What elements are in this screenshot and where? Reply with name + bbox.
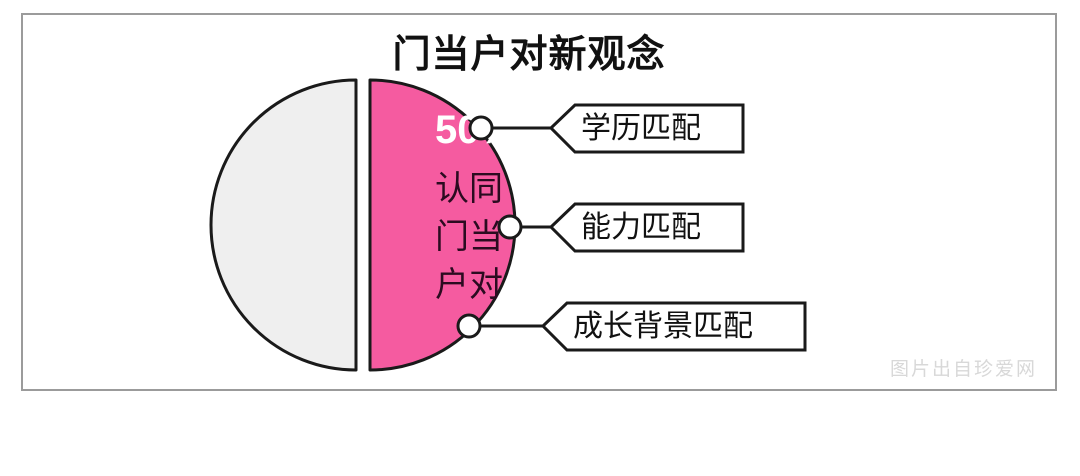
pie-center-line-1: 认同 [435, 170, 503, 208]
pie-center-line-2: 门当 [435, 218, 503, 256]
pie-chart-graphic: 50% 认同 门当 户对 学历匹配 能力匹配 成长背景 [23, 15, 1059, 393]
callout-label-1: 学历匹配 [581, 112, 701, 145]
callout-label-3: 成长背景匹配 [573, 310, 753, 343]
connector-dot-1[interactable] [470, 117, 492, 139]
pie-center-line-3: 户对 [435, 266, 503, 304]
callout-label-2: 能力匹配 [581, 211, 701, 244]
callout-3[interactable]: 成长背景匹配 [458, 303, 805, 350]
callout-2[interactable]: 能力匹配 [499, 204, 743, 251]
infographic-root: 门当户对新观念 50% 认同 门当 户对 学历匹配 [0, 0, 1080, 476]
watermark-text: 图片出自珍爱网 [890, 354, 1037, 381]
content-frame: 门当户对新观念 50% 认同 门当 户对 学历匹配 [21, 13, 1057, 391]
pie-slice-other[interactable] [211, 80, 356, 370]
connector-dot-2[interactable] [499, 216, 521, 238]
connector-dot-3[interactable] [458, 315, 480, 337]
